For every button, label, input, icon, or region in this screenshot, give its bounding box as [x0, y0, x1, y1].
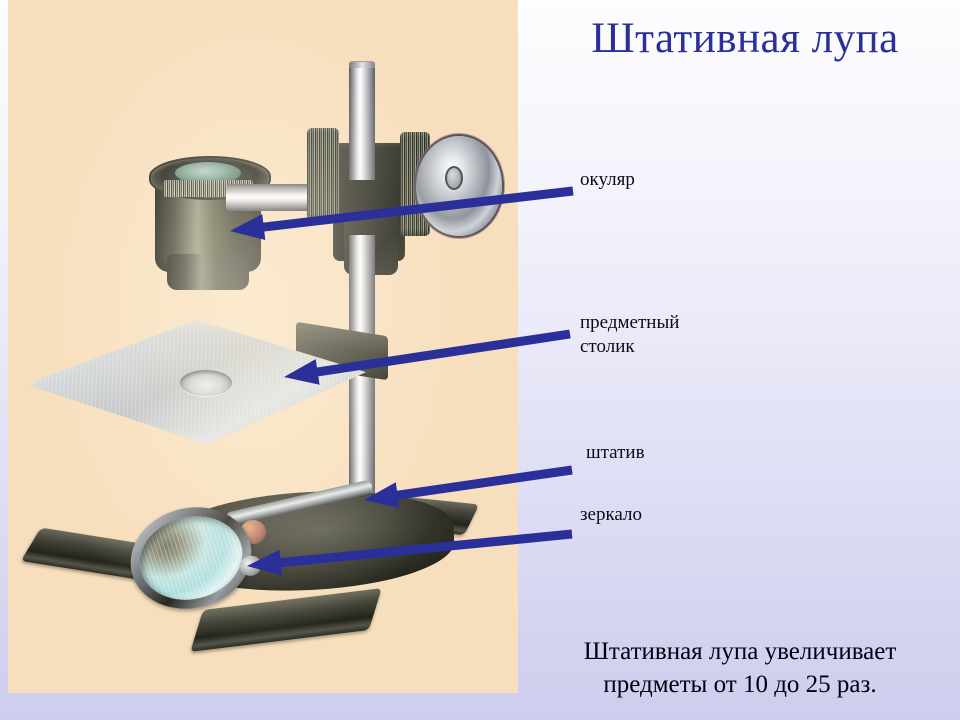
eyepiece-part	[149, 150, 267, 290]
label-shtativ: штатив	[586, 441, 645, 465]
focus-knob-hub	[445, 166, 463, 190]
slide-canvas: Штативная лупа окуляр предметный столик …	[0, 0, 960, 720]
knurled-collar-left	[307, 128, 339, 220]
stand-column-cap	[349, 62, 375, 68]
mirror-part	[120, 495, 263, 622]
eyepiece-base	[167, 254, 249, 290]
object-stage-plate	[26, 320, 366, 444]
stage-aperture-hole	[180, 370, 232, 396]
focus-knob-disc	[416, 136, 502, 236]
slide-caption: Штативная лупа увеличивает предметы от 1…	[530, 636, 950, 701]
page-title: Штативная лупа	[540, 12, 950, 66]
label-zerkalo: зеркало	[580, 503, 642, 527]
stand-column-upper	[349, 62, 375, 180]
microscope-photo-panel	[8, 0, 518, 693]
label-predmetnyj-stolik: предметный столик	[580, 311, 679, 360]
label-okular: окуляр	[580, 168, 635, 192]
